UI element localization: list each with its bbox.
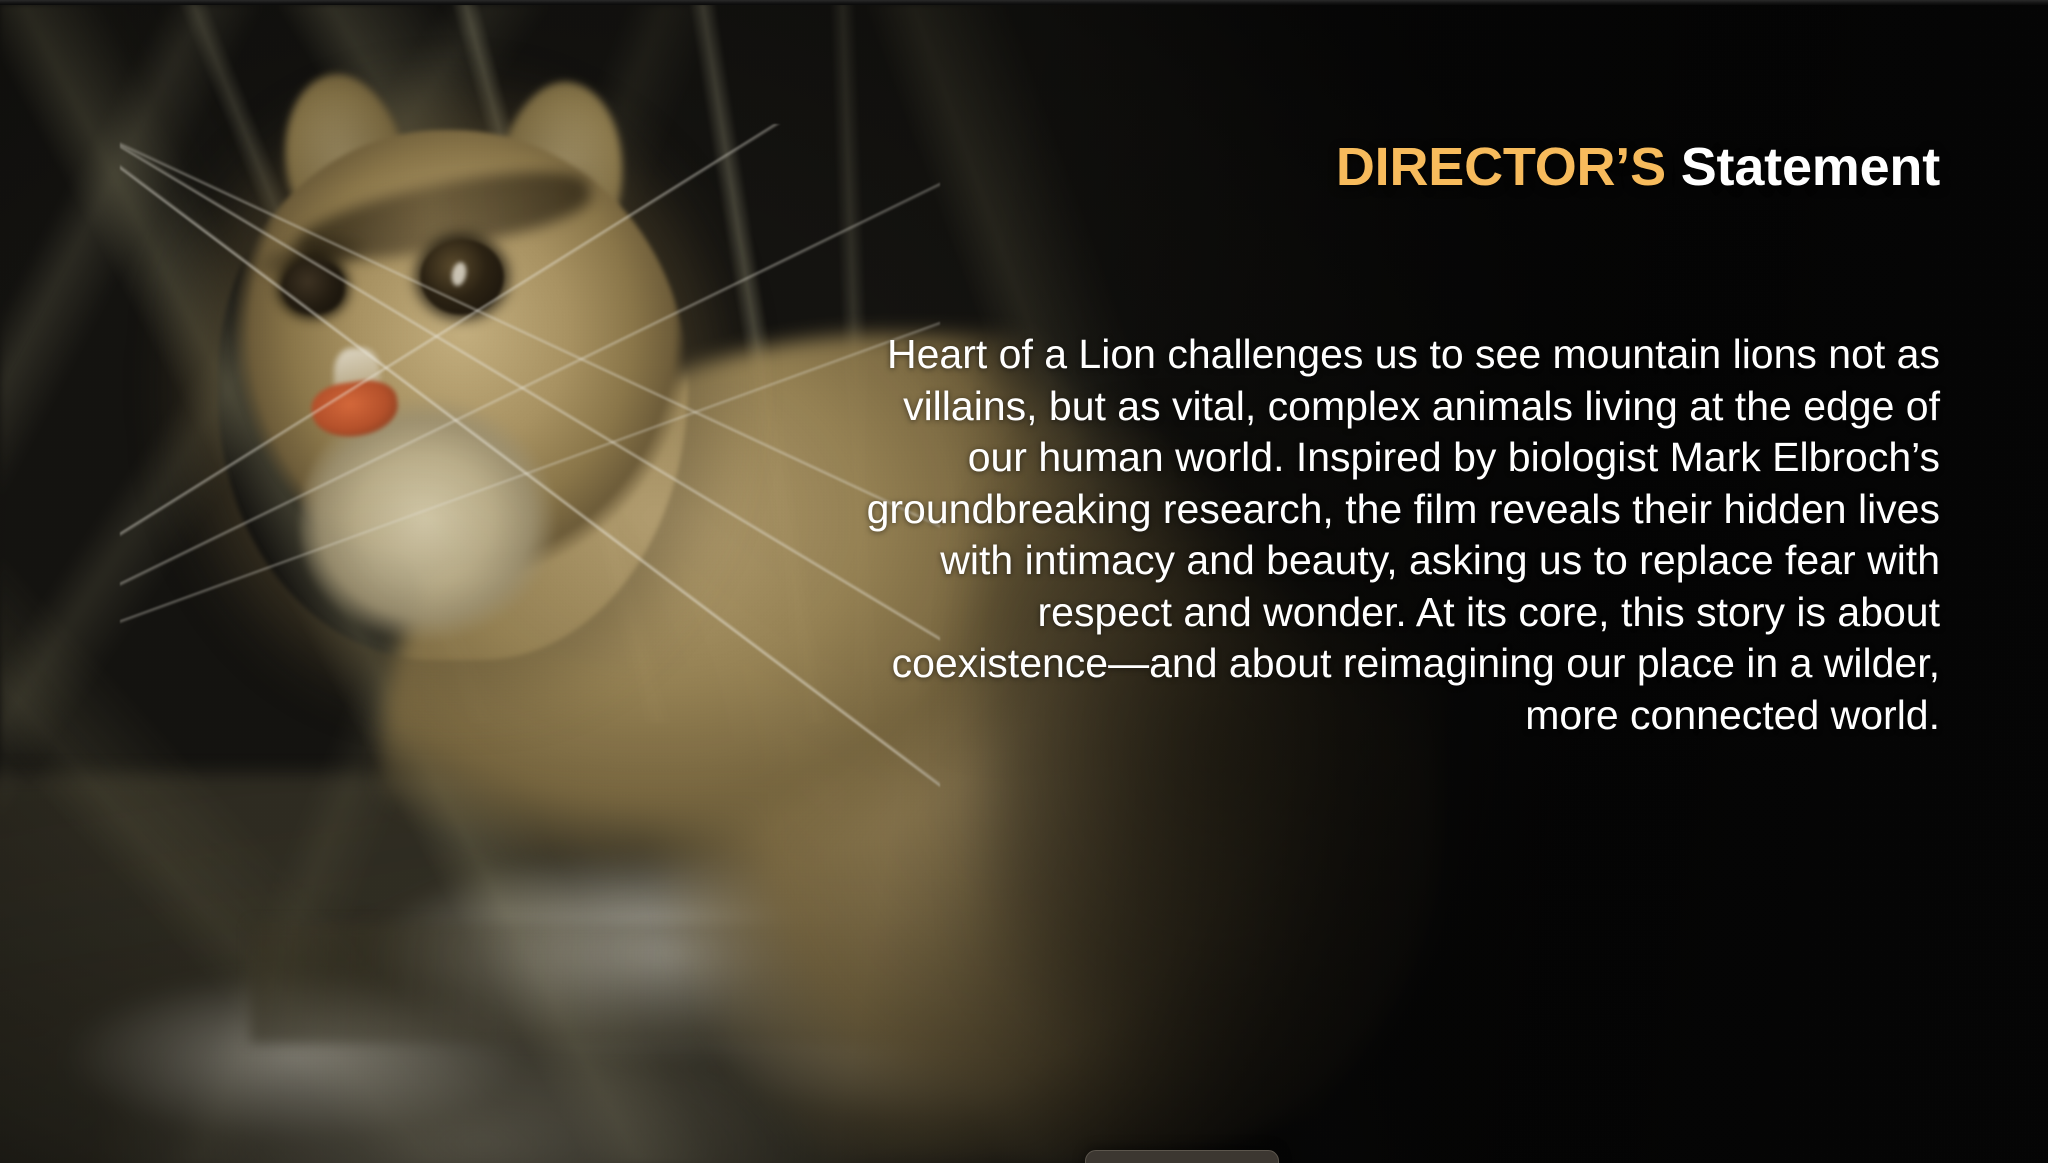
- page-title-space: [1666, 137, 1681, 197]
- page-title-accent: DIRECTOR’S: [1336, 137, 1666, 197]
- browser-chrome-edge: [0, 0, 2048, 5]
- statement-paragraph: Heart of a Lion challenges us to see mou…: [865, 329, 1940, 741]
- statement-content-column: DIRECTOR’S Statement Heart of a Lion cha…: [788, 0, 2048, 1163]
- page-title-rest: Statement: [1681, 137, 1940, 197]
- directors-statement-page: DIRECTOR’S Statement Heart of a Lion cha…: [0, 0, 2048, 1163]
- page-title: DIRECTOR’S Statement: [1336, 139, 1940, 196]
- film-vimeo-button[interactable]: Film Vimeo: [1085, 1150, 1279, 1163]
